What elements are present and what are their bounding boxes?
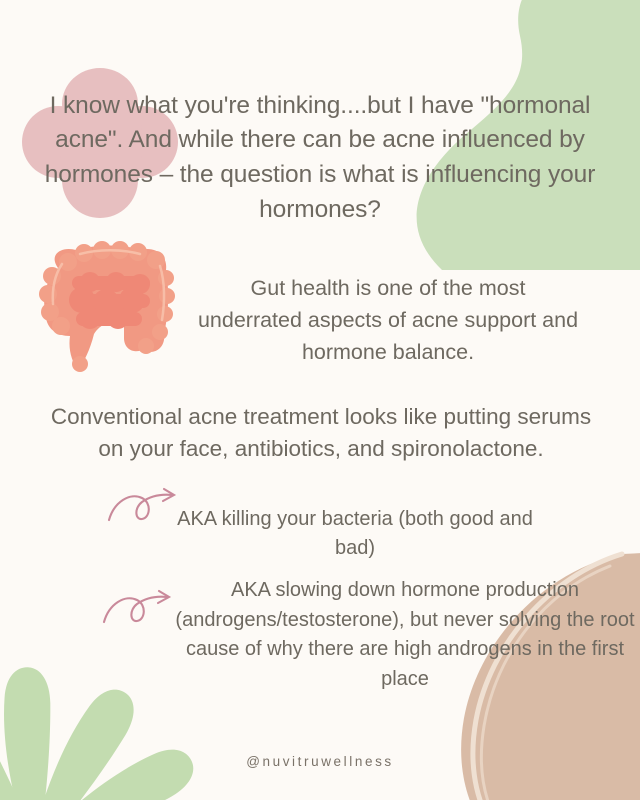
curly-arrow-icon <box>99 582 179 630</box>
aka-hormone-text: AKA slowing down hormone production (and… <box>170 576 640 694</box>
account-handle: @nuvitruwellness <box>0 754 640 769</box>
gut-health-text: Gut health is one of the most underrated… <box>196 272 580 369</box>
conventional-treatment-text: Conventional acne treatment looks like p… <box>36 401 606 467</box>
social-post-canvas: I know what you're thinking....but I hav… <box>0 0 640 800</box>
headline-text: I know what you're thinking....but I hav… <box>30 89 610 228</box>
aka-bacteria-text: AKA killing your bacteria (both good and… <box>170 505 540 563</box>
post-content: I know what you're thinking....but I hav… <box>0 0 640 800</box>
